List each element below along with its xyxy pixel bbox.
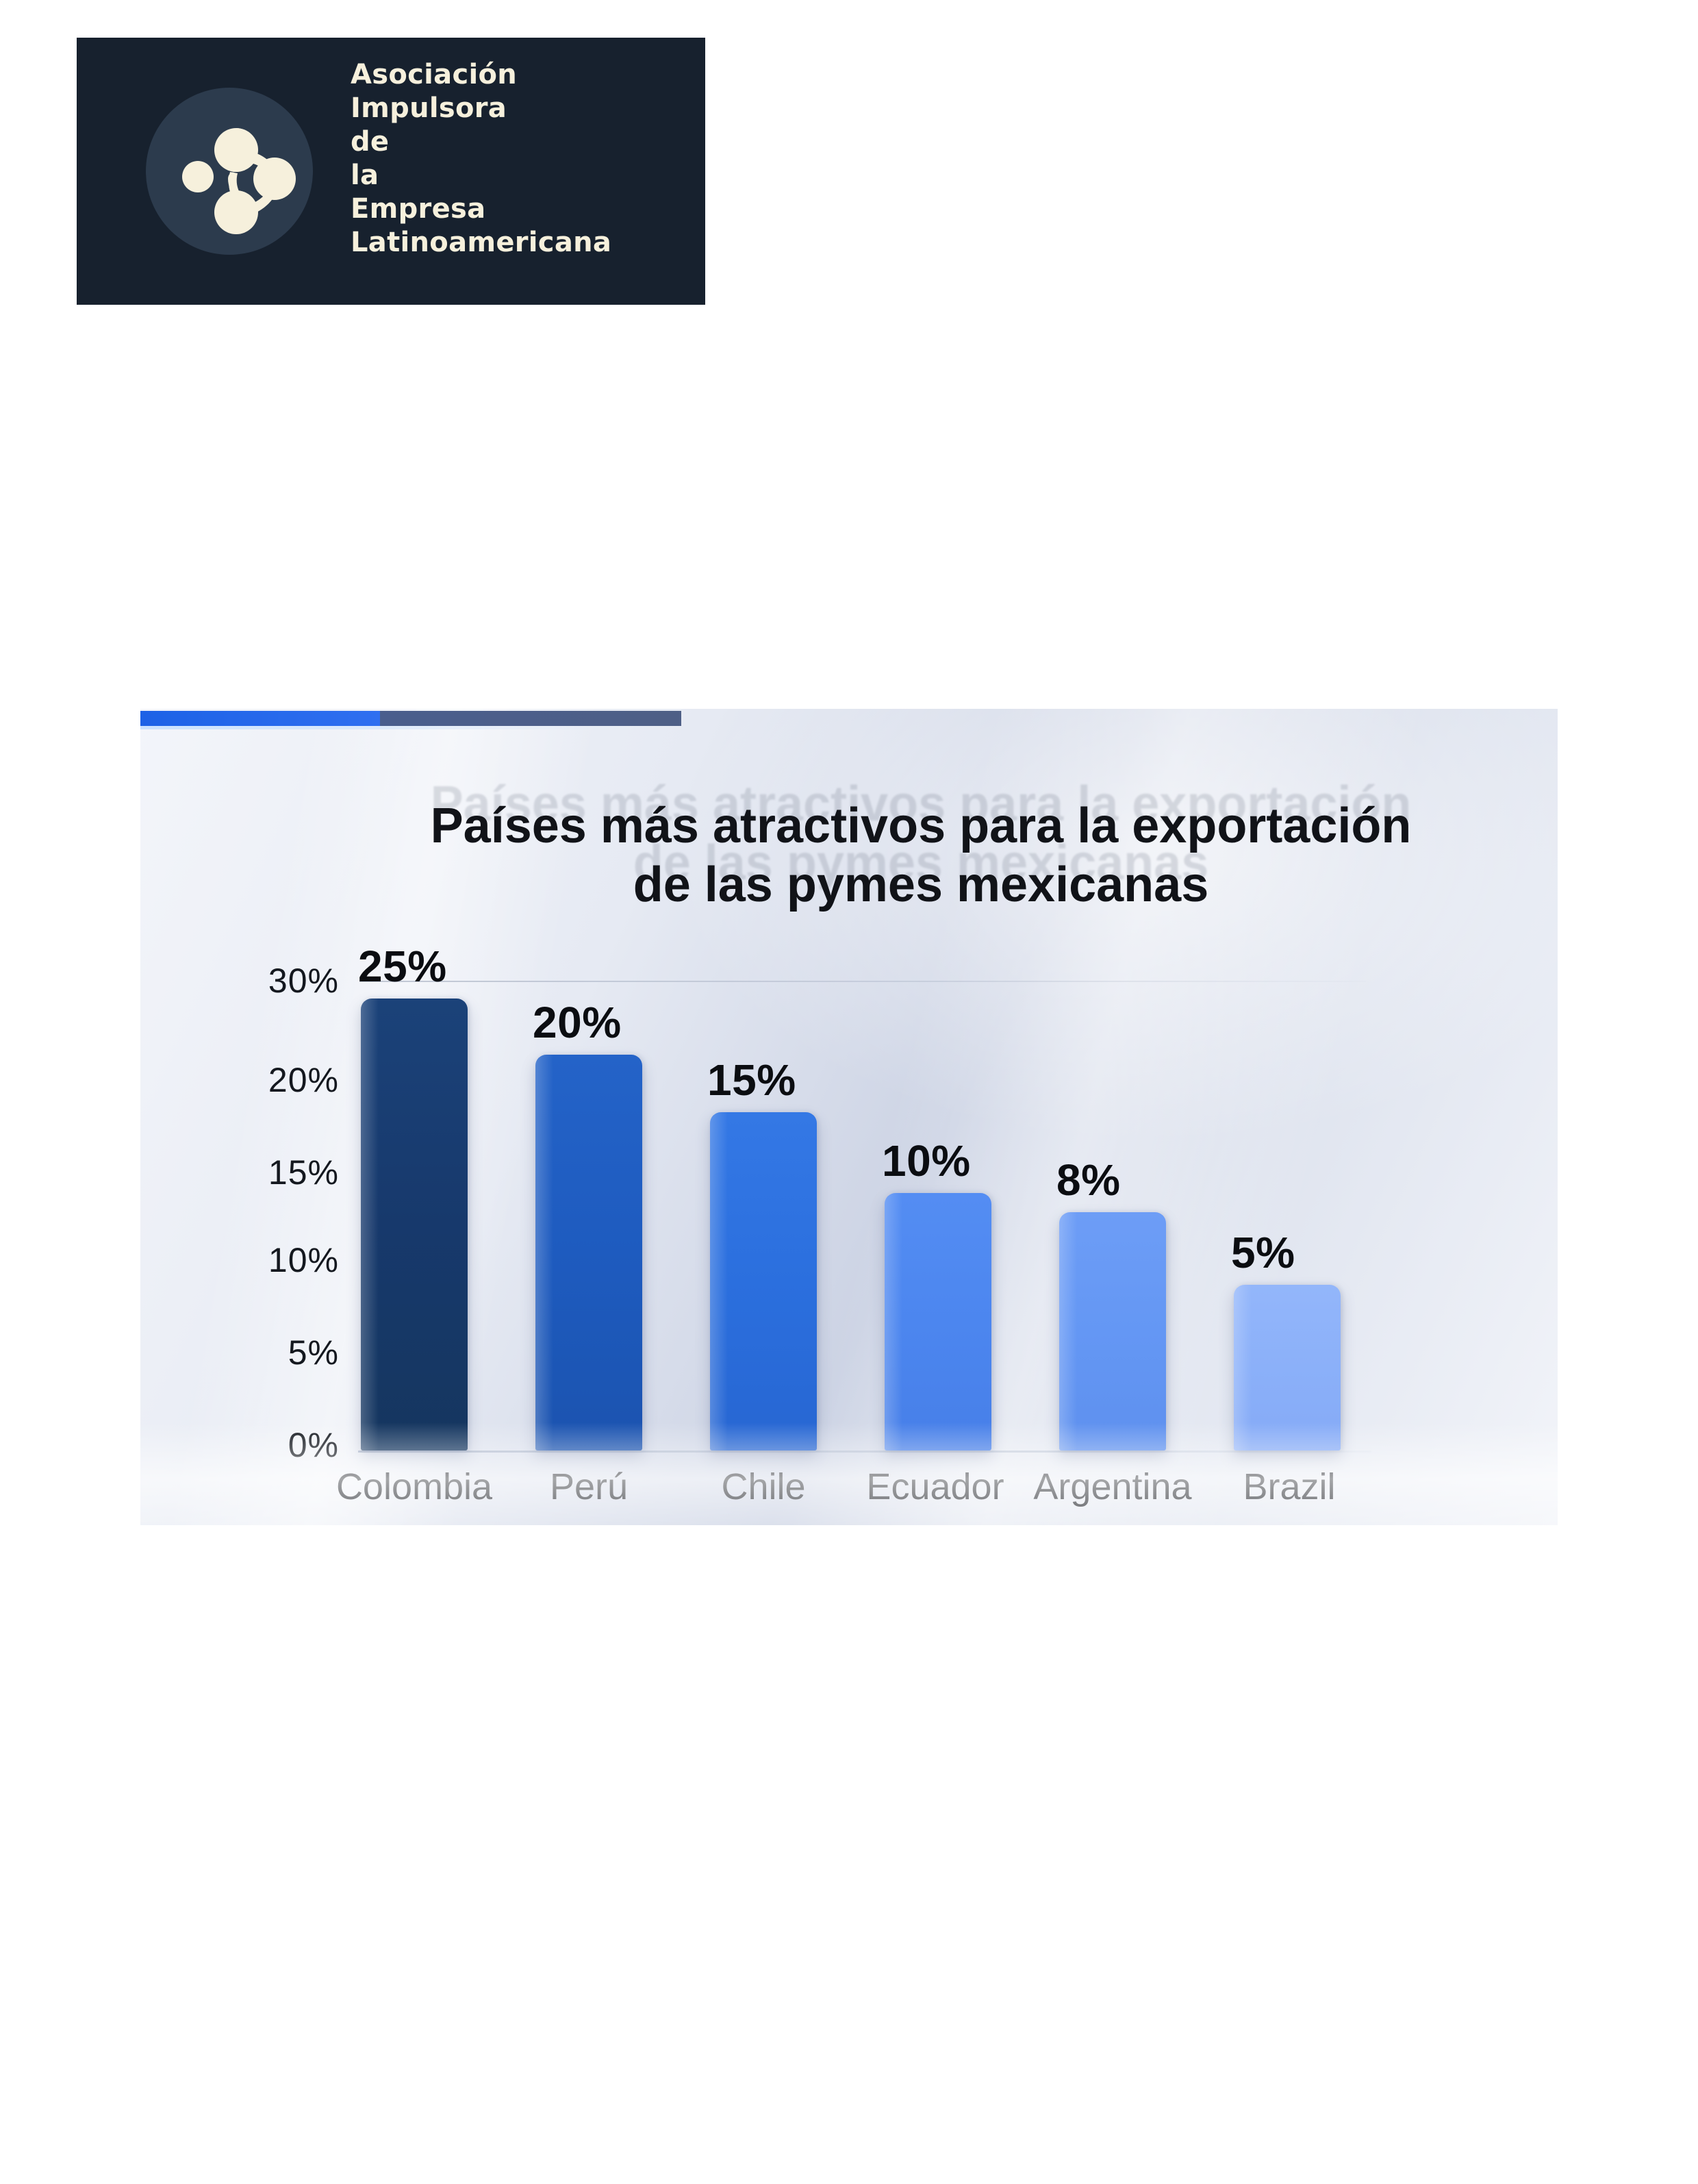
bar-value-brazil: 5%: [1231, 1227, 1295, 1278]
logo-line-2: Impulsora: [351, 92, 693, 125]
plot-area: 30% 20% 15% 10% 5% 0% 25% 20% 15% 10% 8%…: [140, 709, 1558, 1525]
x-axis-label-peru: Perú: [508, 1466, 670, 1508]
y-axis-tick-20: 20%: [202, 1060, 339, 1100]
axis-baseline: [358, 1451, 1371, 1453]
bar-peru[interactable]: [535, 1055, 642, 1451]
x-axis-label-chile: Chile: [683, 1466, 844, 1508]
bar-group-brazil[interactable]: 5%: [1234, 1285, 1341, 1451]
y-axis-tick-5: 5%: [202, 1333, 339, 1372]
logo-line-3: de: [351, 125, 693, 159]
logo-line-1: Asociación: [351, 58, 693, 92]
bar-value-argentina: 8%: [1056, 1155, 1121, 1205]
bar-argentina[interactable]: [1059, 1212, 1166, 1451]
x-axis-label-brazil: Brazil: [1208, 1466, 1370, 1508]
bar-chart-panel: Países más atractivos para la exportació…: [140, 709, 1558, 1525]
bar-value-colombia: 25%: [358, 941, 447, 992]
x-axis-label-argentina: Argentina: [1027, 1466, 1198, 1508]
y-axis-tick-10: 10%: [202, 1240, 339, 1280]
bar-group-argentina[interactable]: 8%: [1059, 1212, 1166, 1451]
bar-group-ecuador[interactable]: 10%: [885, 1193, 991, 1451]
bar-group-chile[interactable]: 15%: [710, 1112, 817, 1451]
network-nodes-icon: [137, 79, 322, 264]
bar-value-peru: 20%: [533, 997, 622, 1048]
gridline-30-percent: [359, 981, 1366, 982]
organization-logo-badge: Asociación Impulsora de la Empresa Latin…: [77, 38, 705, 305]
logo-line-5: Empresa: [351, 192, 693, 226]
bar-value-chile: 15%: [707, 1055, 796, 1105]
y-axis-tick-15: 15%: [202, 1153, 339, 1192]
bar-chile[interactable]: [710, 1112, 817, 1451]
logo-line-6: Latinoamericana: [351, 226, 693, 260]
logo-line-4: la: [351, 159, 693, 192]
y-axis-tick-30: 30%: [202, 961, 339, 1001]
bar-value-ecuador: 10%: [882, 1135, 971, 1186]
x-axis-label-colombia: Colombia: [333, 1466, 495, 1508]
bar-group-colombia[interactable]: 25%: [361, 999, 468, 1451]
organization-name: Asociación Impulsora de la Empresa Latin…: [351, 58, 693, 260]
bar-brazil[interactable]: [1234, 1285, 1341, 1451]
bar-ecuador[interactable]: [885, 1193, 991, 1451]
bar-group-peru[interactable]: 20%: [535, 1055, 642, 1451]
x-axis-label-ecuador: Ecuador: [854, 1466, 1016, 1508]
bar-colombia[interactable]: [361, 999, 468, 1451]
y-axis-tick-0: 0%: [202, 1425, 339, 1465]
